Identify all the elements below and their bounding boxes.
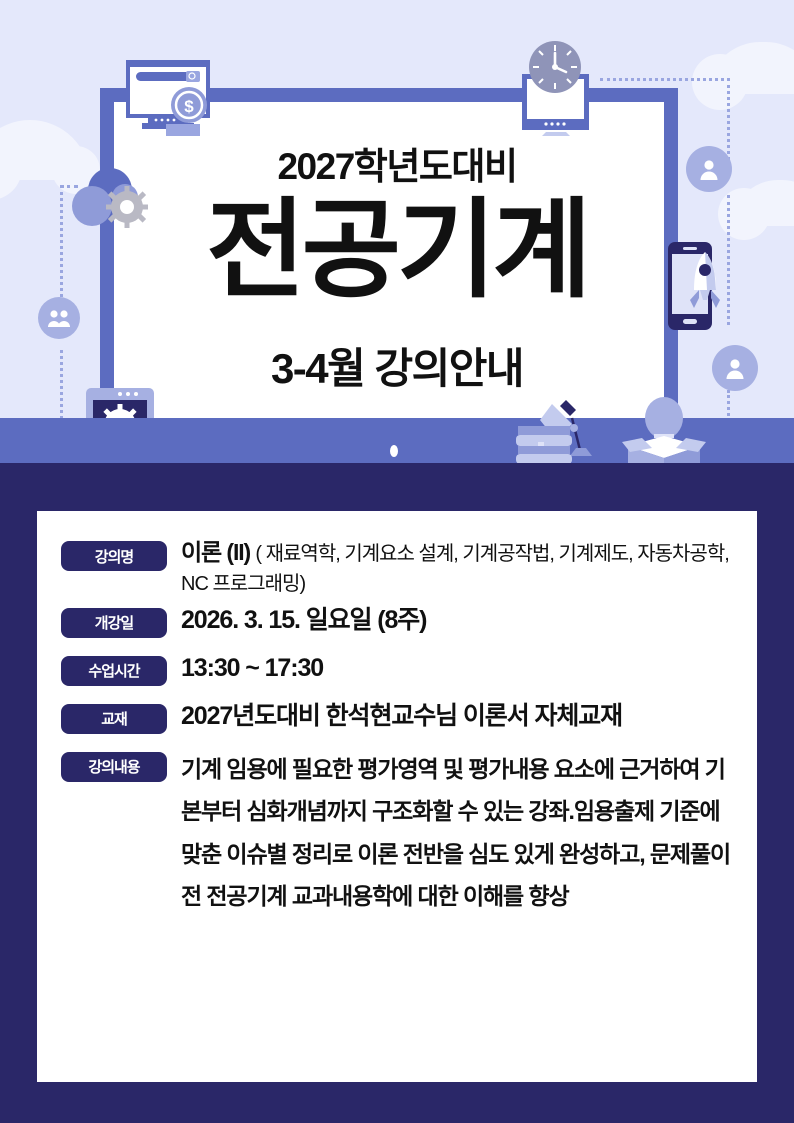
dollar-coin-icon: $ xyxy=(170,86,208,124)
textbook-value: 2027년도대비 한석현교수님 이론서 자체교재 xyxy=(181,700,735,733)
class-time-value: 13:30 ~ 17:30 xyxy=(181,652,735,685)
cloud-icon xyxy=(708,42,794,94)
hero-year-line: 2027학년도대비 xyxy=(0,136,794,190)
info-row-class-time: 수업시간 13:30 ~ 17:30 xyxy=(61,652,735,686)
course-name-subjects: ( 재료역학, 기계요소 설계, 기계공작법, 기계제도, 자동차공학, NC … xyxy=(181,543,729,595)
course-content-value: 기계 임용에 필요한 평가영역 및 평가내용 요소에 근거하여 기본부터 심화개… xyxy=(181,748,735,918)
badge-course-content: 강의내용 xyxy=(61,752,167,782)
clock-icon xyxy=(528,40,582,94)
hero-banner: $ xyxy=(0,0,794,463)
start-date-value: 2026. 3. 15. 일요일 (8주) xyxy=(181,604,735,637)
info-row-start-date: 개강일 2026. 3. 15. 일요일 (8주) xyxy=(61,604,735,638)
hero-main-title: 전공기계 xyxy=(0,196,794,304)
badge-course-name: 강의명 xyxy=(61,541,167,571)
hero-sub-title: 3-4월 강의안내 xyxy=(0,335,794,396)
course-info-card: 강의명 이론 (II) ( 재료역학, 기계요소 설계, 기계공작법, 기계제도… xyxy=(37,511,757,1082)
dotted-connector xyxy=(600,78,730,81)
info-row-textbook: 교재 2027년도대비 한석현교수님 이론서 자체교재 xyxy=(61,700,735,734)
badge-textbook: 교재 xyxy=(61,704,167,734)
svg-text:$: $ xyxy=(184,97,194,116)
badge-start-date: 개강일 xyxy=(61,608,167,638)
info-row-course-content: 강의내용 기계 임용에 필요한 평가영역 및 평가내용 요소에 근거하여 기본부… xyxy=(61,748,735,918)
info-row-course-name: 강의명 이론 (II) ( 재료역학, 기계요소 설계, 기계공작법, 기계제도… xyxy=(61,537,735,598)
course-name-value: 이론 (II) ( 재료역학, 기계요소 설계, 기계공작법, 기계제도, 자동… xyxy=(181,537,735,598)
books-stack-icon xyxy=(516,398,616,463)
open-box-lightbulb-icon xyxy=(612,394,722,463)
decor-dot xyxy=(390,445,398,457)
badge-class-time: 수업시간 xyxy=(61,656,167,686)
course-name-bold: 이론 (II) xyxy=(181,539,250,565)
